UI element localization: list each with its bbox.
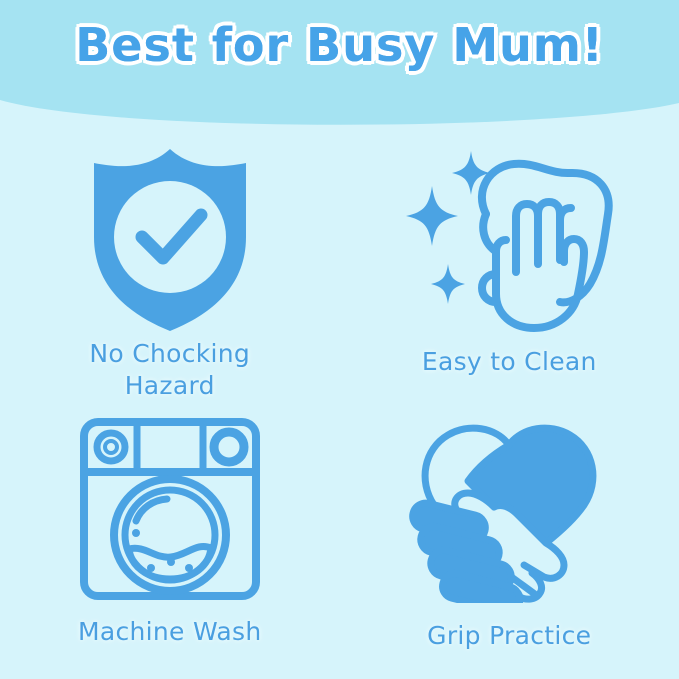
label-line-1: Grip Practice xyxy=(427,621,591,650)
label-line-1: Easy to Clean xyxy=(422,347,597,376)
label-line-1: No Chocking xyxy=(89,339,250,368)
page-title: Best for Busy Mum! Best for Busy Mum! xyxy=(0,14,679,76)
handshake-heart-icon xyxy=(406,406,612,606)
feature-item-machine-wash: Machine Wash xyxy=(0,406,340,679)
feature-item-easy-to-clean: Easy to Clean xyxy=(340,132,679,406)
feature-item-grip-practice: Grip Practice xyxy=(340,406,679,679)
sparkle-group xyxy=(406,151,490,304)
infographic-card: Best for Busy Mum! Best for Busy Mum! No… xyxy=(0,0,679,679)
washing-machine-icon xyxy=(75,406,265,602)
feature-label-no-chocking-hazard: No Chocking Hazard xyxy=(89,338,250,402)
feature-label-machine-wash: Machine Wash xyxy=(78,616,262,648)
feature-label-easy-to-clean: Easy to Clean xyxy=(422,346,597,378)
feature-grid: No Chocking Hazard xyxy=(0,132,679,679)
hand-wipe-sparkle-icon xyxy=(394,132,624,334)
shield-check-icon xyxy=(72,132,268,334)
feature-label-grip-practice: Grip Practice xyxy=(427,620,591,652)
label-line-1: Machine Wash xyxy=(78,617,262,646)
label-line-2: Hazard xyxy=(125,371,215,400)
feature-item-no-chocking-hazard: No Chocking Hazard xyxy=(0,132,340,406)
page-title-fill: Best for Busy Mum! xyxy=(0,14,679,76)
